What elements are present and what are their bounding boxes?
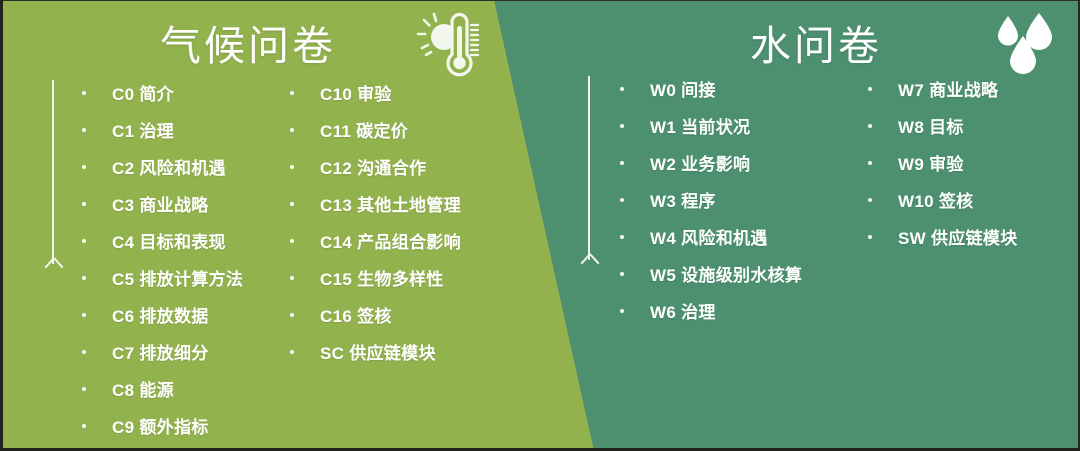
list-item-label: C11 碳定价 [320,117,408,142]
list-item[interactable]: W0 间接 [620,70,802,107]
list-item-label: W5 设施级别水核算 [650,261,802,286]
bullet-icon [290,91,294,95]
list-item-label: C8 能源 [112,376,174,401]
list-item-label: C9 额外指标 [112,413,209,438]
list-item[interactable]: C6 排放数据 [82,296,243,333]
bullet-icon [620,87,624,91]
list-item-label: C4 目标和表现 [112,228,226,253]
list-item[interactable]: C12 沟通合作 [290,148,461,185]
slide-edge-top [0,0,1080,1]
bullet-icon [868,235,872,239]
bullet-icon [620,124,624,128]
bullet-icon [620,235,624,239]
climate-column-2: C10 审验 C11 碳定价 C12 沟通合作 C13 其他土地管理 C14 产… [290,74,461,370]
list-item[interactable]: C8 能源 [82,370,243,407]
bullet-icon [82,350,86,354]
list-item-label: W8 目标 [898,113,964,138]
list-item-label: C16 签核 [320,302,392,327]
bullet-icon [82,128,86,132]
list-item[interactable]: C16 签核 [290,296,461,333]
list-item-label: C6 排放数据 [112,302,209,327]
list-item-label: W4 风险和机遇 [650,224,768,249]
bullet-icon [82,165,86,169]
list-item-label: C10 审验 [320,80,392,105]
list-item-label: C12 沟通合作 [320,154,426,179]
bullet-icon [290,239,294,243]
list-item[interactable]: W1 当前状况 [620,107,802,144]
list-item-label: C5 排放计算方法 [112,265,243,290]
list-item-label: C1 治理 [112,117,174,142]
water-title: 水问卷 [750,12,882,72]
water-droplets-icon [994,8,1056,74]
bullet-icon [82,313,86,317]
bullet-icon [82,276,86,280]
bullet-icon [620,272,624,276]
bullet-icon [290,350,294,354]
list-item-label: C2 风险和机遇 [112,154,226,179]
list-item[interactable]: C14 产品组合影响 [290,222,461,259]
bullet-icon [290,276,294,280]
bullet-icon [82,202,86,206]
list-item-label: C0 简介 [112,80,174,105]
list-item-label: C14 产品组合影响 [320,228,461,253]
list-item-label: W7 商业战略 [898,76,998,101]
climate-title: 气候问卷 [160,12,336,72]
bullet-icon [868,124,872,128]
bullet-icon [868,161,872,165]
bullet-icon [82,91,86,95]
bullet-icon [620,198,624,202]
list-item[interactable]: C3 商业战略 [82,185,243,222]
water-column-1: W0 间接 W1 当前状况 W2 业务影响 W3 程序 W4 风险和机遇 W5 … [620,70,802,329]
bullet-icon [290,165,294,169]
bullet-icon [620,161,624,165]
list-item[interactable]: C11 碳定价 [290,111,461,148]
list-item[interactable]: W2 业务影响 [620,144,802,181]
list-item[interactable]: C4 目标和表现 [82,222,243,259]
bullet-icon [620,309,624,313]
list-item-label: W9 审验 [898,150,964,175]
list-item-label: SW 供应链模块 [898,224,1018,249]
climate-column-1: C0 简介 C1 治理 C2 风险和机遇 C3 商业战略 C4 目标和表现 C5… [82,74,243,444]
list-item[interactable]: SC 供应链模块 [290,333,461,370]
list-item[interactable]: C15 生物多样性 [290,259,461,296]
list-item[interactable]: SW 供应链模块 [868,218,1018,255]
list-item-label: C15 生物多样性 [320,265,444,290]
list-item[interactable]: W6 治理 [620,292,802,329]
list-item-label: W6 治理 [650,298,716,323]
list-item[interactable]: W9 审验 [868,144,1018,181]
list-item[interactable]: W5 设施级别水核算 [620,255,802,292]
list-item-label: C3 商业战略 [112,191,209,216]
slide-edge-left [0,0,3,451]
list-item[interactable]: C2 风险和机遇 [82,148,243,185]
bullet-icon [82,387,86,391]
water-column-2: W7 商业战略 W8 目标 W9 审验 W10 签核 SW 供应链模块 [868,70,1018,255]
list-item[interactable]: C1 治理 [82,111,243,148]
list-item[interactable]: C5 排放计算方法 [82,259,243,296]
list-item-label: W2 业务影响 [650,150,750,175]
bullet-icon [82,239,86,243]
list-item[interactable]: W4 风险和机遇 [620,218,802,255]
bullet-icon [290,313,294,317]
list-item[interactable]: W8 目标 [868,107,1018,144]
list-item-label: W10 签核 [898,187,973,212]
list-item[interactable]: W7 商业战略 [868,70,1018,107]
list-item[interactable]: W10 签核 [868,181,1018,218]
list-item[interactable]: W3 程序 [620,181,802,218]
list-item-label: C13 其他土地管理 [320,191,461,216]
list-item-label: C7 排放细分 [112,339,209,364]
list-item-label: SC 供应链模块 [320,339,436,364]
list-item-label: W3 程序 [650,187,716,212]
bullet-icon [290,202,294,206]
list-item[interactable]: C0 简介 [82,74,243,111]
list-item[interactable]: C13 其他土地管理 [290,185,461,222]
bullet-icon [868,198,872,202]
list-item-label: W1 当前状况 [650,113,750,138]
list-item[interactable]: C9 额外指标 [82,407,243,444]
list-item[interactable]: C7 排放细分 [82,333,243,370]
slide-canvas: 气候问卷 [0,0,1080,451]
list-item-label: W0 间接 [650,76,716,101]
bullet-icon [82,424,86,428]
list-item[interactable]: C10 审验 [290,74,461,111]
thermometer-sun-icon [412,8,484,82]
bullet-icon [290,128,294,132]
bullet-icon [868,87,872,91]
